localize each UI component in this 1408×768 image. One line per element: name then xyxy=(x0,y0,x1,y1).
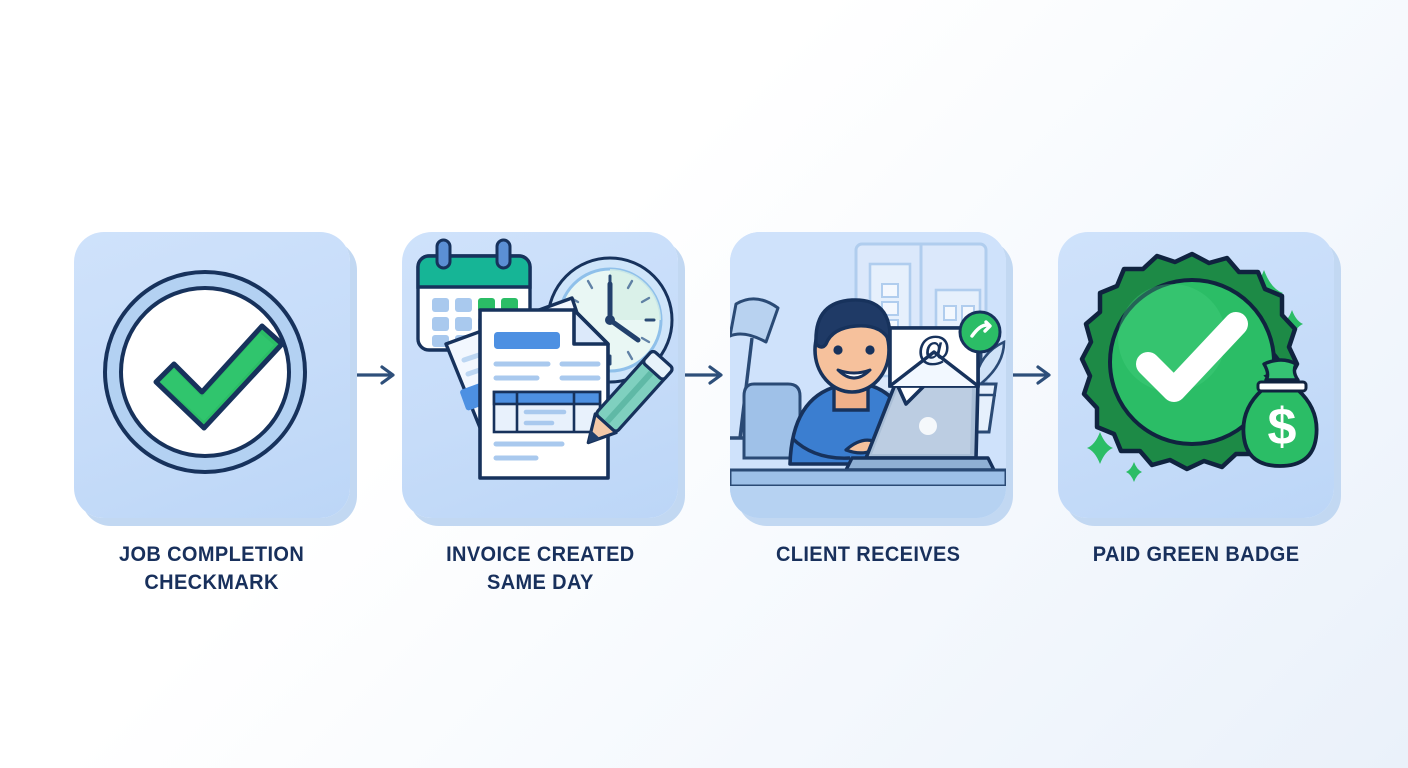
arrow-right-icon xyxy=(681,364,727,386)
flow-step-client-receives[interactable]: @ CLIENT RECEIVES xyxy=(730,232,1006,568)
step-2-caption: INVOICE CREATED SAME DAY xyxy=(446,540,635,597)
step-4-caption: PAID GREEN BADGE xyxy=(1093,540,1300,568)
job-completion-checkmark-icon xyxy=(74,232,350,518)
step-3-caption: CLIENT RECEIVES xyxy=(776,540,960,568)
process-flow: JOB COMPLETION CHECKMARK xyxy=(0,232,1408,612)
invoice-created-icon xyxy=(402,232,678,518)
flow-arrow-3 xyxy=(1006,232,1058,518)
flow-step-invoice-created[interactable]: INVOICE CREATED SAME DAY xyxy=(402,232,678,597)
client-receives-icon: @ xyxy=(730,232,1006,518)
step-1-caption: JOB COMPLETION CHECKMARK xyxy=(119,540,304,597)
arrow-right-icon xyxy=(353,364,399,386)
step-4-icon-panel[interactable]: $ xyxy=(1058,232,1334,518)
sent-badge-icon xyxy=(960,312,1000,352)
invoice-document-icon xyxy=(480,310,608,478)
flow-arrow-2 xyxy=(678,232,730,518)
flow-arrow-1 xyxy=(350,232,402,518)
infographic-canvas: JOB COMPLETION CHECKMARK xyxy=(0,0,1408,768)
flow-step-job-completion[interactable]: JOB COMPLETION CHECKMARK xyxy=(74,232,350,597)
arrow-right-icon xyxy=(1009,364,1055,386)
flow-step-paid-badge[interactable]: $ PAID GREEN BADGE xyxy=(1058,232,1334,568)
paid-green-badge-icon: $ xyxy=(1058,232,1334,518)
envelope-at-symbol: @ xyxy=(917,330,950,368)
step-3-icon-panel[interactable]: @ xyxy=(730,232,1006,518)
money-dollar-symbol: $ xyxy=(1268,398,1297,456)
step-1-icon-panel[interactable] xyxy=(74,232,350,518)
step-2-icon-panel[interactable] xyxy=(402,232,678,518)
